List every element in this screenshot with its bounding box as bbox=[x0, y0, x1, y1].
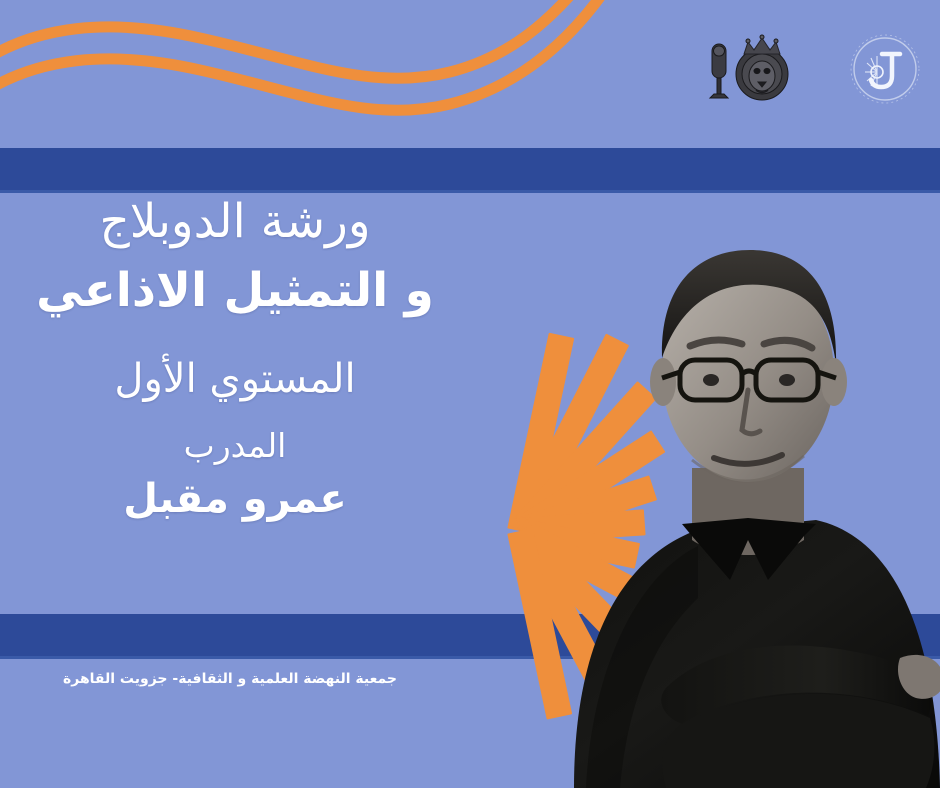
workshop-title-line1: ورشة الدوبلاج bbox=[0, 196, 470, 249]
workshop-title-line2: و التمثيل الاذاعي bbox=[0, 265, 470, 318]
jesuit-j-logo bbox=[848, 32, 922, 106]
workshop-level: المستوي الأول bbox=[0, 357, 470, 402]
organization-footer: جمعية النهضة العلمية و الثقافية- جزويت ا… bbox=[0, 671, 460, 687]
event-poster: ورشة الدوبلاج و التمثيل الاذاعي المستوي … bbox=[0, 0, 940, 788]
trainer-role-label: المدرب bbox=[0, 428, 470, 465]
presenter-photo bbox=[516, 168, 940, 788]
wave-decoration bbox=[0, 0, 640, 160]
poster-text-block: ورشة الدوبلاج و التمثيل الاذاعي المستوي … bbox=[0, 196, 470, 522]
lion-microphone-logo bbox=[700, 28, 796, 112]
trainer-name: عمرو مقبل bbox=[0, 477, 470, 522]
